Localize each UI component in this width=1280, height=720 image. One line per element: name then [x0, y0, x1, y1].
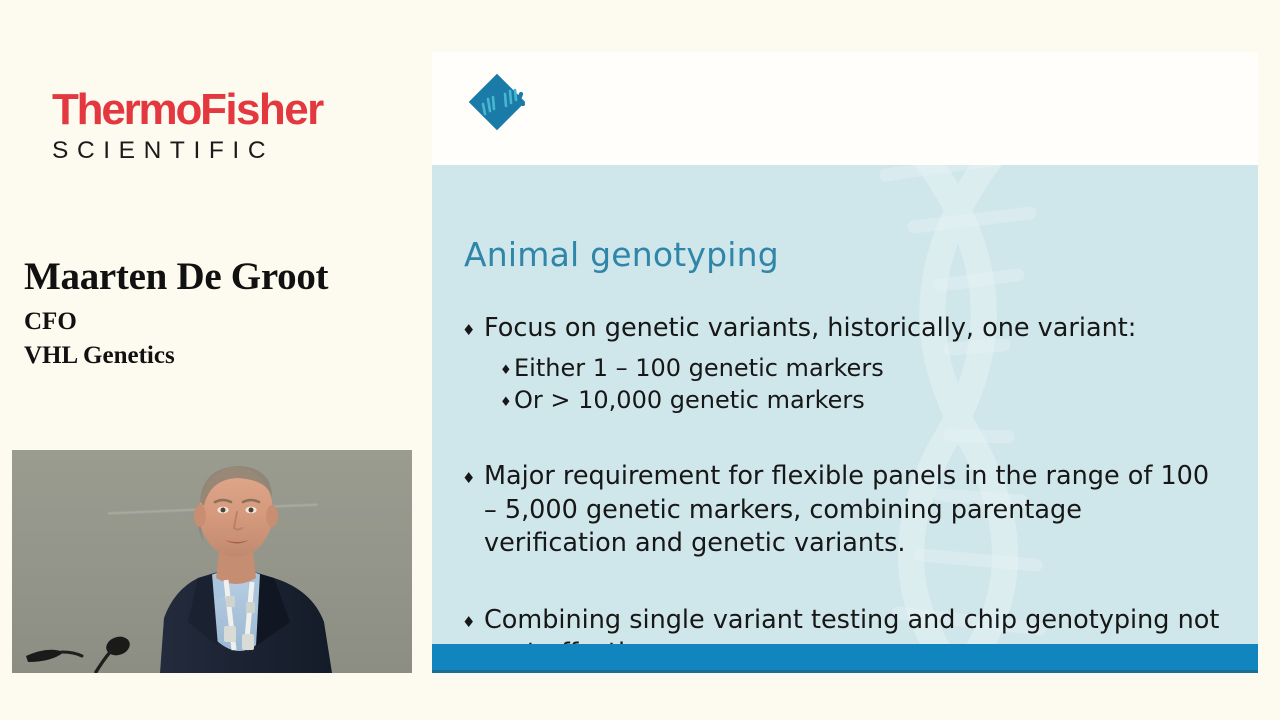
slide-body: Animal genotyping ♦ Focus on genetic var… — [432, 165, 1258, 644]
slide-accent-bar — [432, 644, 1258, 673]
bullet-item: ♦ Focus on genetic variants, historicall… — [462, 312, 1228, 345]
brand-wordmark-thermo: Thermo — [52, 85, 200, 134]
speaker-panel: ThermoFisher SCIENTIFIC Maarten De Groot… — [0, 0, 432, 720]
bullet-group: ♦ Major requirement for flexible panels … — [462, 460, 1228, 559]
speaker-figure — [12, 450, 412, 673]
slide-header — [432, 52, 1258, 165]
bullet-subtext: Or > 10,000 genetic markers — [514, 385, 1228, 417]
bullet-group: ♦ Combining single variant testing and c… — [462, 604, 1228, 644]
bullet-subitem: ♦ Either 1 – 100 genetic markers — [500, 353, 1228, 385]
microphone-right — [96, 634, 132, 672]
brand-wordmark-fisher: Fisher — [200, 85, 322, 134]
bullet-item: ♦ Combining single variant testing and c… — [462, 604, 1228, 644]
brand-subline: SCIENTIFIC — [52, 139, 362, 164]
bullet-subtext: Either 1 – 100 genetic markers — [514, 353, 1228, 385]
speaker-organization: VHL Genetics — [24, 342, 424, 370]
bullet-sublist: ♦ Either 1 – 100 genetic markers ♦ Or > … — [462, 353, 1228, 416]
bullet-marker-icon: ♦ — [500, 385, 514, 409]
bullet-group: ♦ Focus on genetic variants, historicall… — [462, 312, 1228, 416]
slide: Animal genotyping ♦ Focus on genetic var… — [432, 52, 1258, 673]
speaker-role: CFO — [24, 308, 424, 336]
bullet-subitem: ♦ Or > 10,000 genetic markers — [500, 385, 1228, 417]
slide-title: Animal genotyping — [464, 235, 779, 274]
bullet-marker-icon: ♦ — [462, 312, 484, 338]
bullet-item: ♦ Major requirement for flexible panels … — [462, 460, 1228, 559]
bullet-marker-icon: ♦ — [500, 353, 514, 377]
slide-bullet-list: ♦ Focus on genetic variants, historicall… — [462, 312, 1228, 644]
bullet-text: Combining single variant testing and chi… — [484, 604, 1228, 644]
bullet-text: Major requirement for flexible panels in… — [484, 460, 1228, 559]
speaker-info: Maarten De Groot CFO VHL Genetics — [24, 256, 424, 370]
brand-wordmark: ThermoFisher — [52, 88, 362, 132]
microphone-left — [26, 650, 82, 662]
thermo-fisher-logo: ThermoFisher SCIENTIFIC — [52, 88, 362, 164]
presentation-viewer: ThermoFisher SCIENTIFIC Maarten De Groot… — [0, 0, 1280, 720]
speaker-video-feed — [12, 450, 412, 673]
bullet-text: Focus on genetic variants, historically,… — [484, 312, 1228, 345]
bullet-marker-icon: ♦ — [462, 604, 484, 630]
dna-helix-diamond-logo — [465, 68, 529, 136]
speaker-name: Maarten De Groot — [24, 256, 424, 298]
bullet-marker-icon: ♦ — [462, 460, 484, 486]
